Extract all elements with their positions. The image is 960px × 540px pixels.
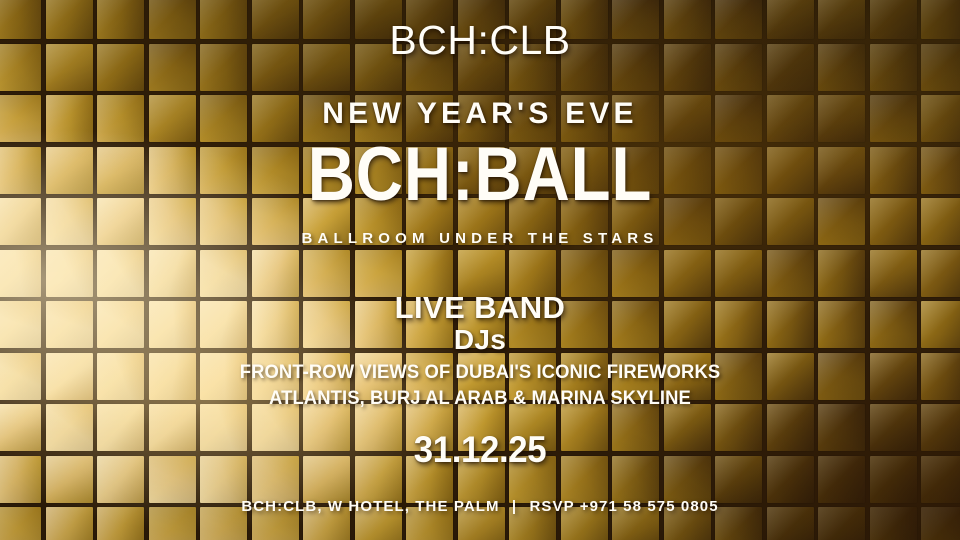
- footer-info: BCH:CLB, W HOTEL, THE PALM | RSVP +971 5…: [0, 499, 960, 514]
- event-tagline: BALLROOM UNDER THE STARS: [0, 231, 960, 246]
- club-logo: BCH:CLB: [0, 20, 960, 61]
- nye-event-poster: BCH:CLB NEW YEAR'S EVE BCH:BALL BALLROOM…: [0, 0, 960, 540]
- event-kicker: NEW YEAR'S EVE: [0, 99, 960, 129]
- footer-venue: BCH:CLB, W HOTEL, THE PALM: [241, 498, 499, 515]
- feature-djs: DJs: [0, 326, 960, 354]
- feature-detail-line-1: FRONT-ROW VIEWS OF DUBAI'S ICONIC FIREWO…: [14, 362, 945, 384]
- footer-rsvp: RSVP +971 58 575 0805: [529, 498, 718, 515]
- feature-live-band: LIVE BAND: [0, 292, 960, 323]
- event-date: 31.12.25: [29, 431, 931, 468]
- event-title: BCH:BALL: [67, 137, 893, 213]
- footer-separator: |: [505, 498, 524, 515]
- feature-detail-line-2: ATLANTIS, BURJ AL ARAB & MARINA SKYLINE: [14, 388, 945, 410]
- poster-content: BCH:CLB NEW YEAR'S EVE BCH:BALL BALLROOM…: [0, 0, 960, 540]
